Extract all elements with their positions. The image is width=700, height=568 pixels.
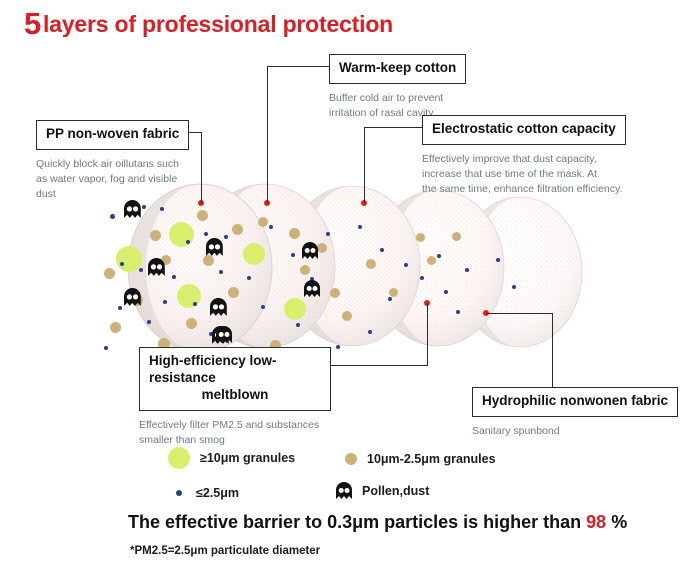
pollen-dust-icon xyxy=(210,298,227,316)
effectiveness-statement: The effective barrier to 0.3μm particles… xyxy=(128,512,627,533)
connector-line-vertical xyxy=(552,313,553,387)
percent-unit: % xyxy=(606,512,627,532)
pollen-dust-icon xyxy=(302,242,318,259)
connector-line-horizontal xyxy=(364,127,422,128)
callout-warm-keep-cotton: Warm-keep cotton Buffer cold air to prev… xyxy=(329,54,489,121)
callout-label-line1: High-efficiency low-resistance xyxy=(149,353,321,387)
connector-line-vertical xyxy=(364,127,365,203)
connector-line-horizontal xyxy=(267,66,329,67)
legend-label: Pollen,dust xyxy=(362,484,429,498)
connector-line-vertical xyxy=(201,132,202,203)
legend-label: ≥10μm granules xyxy=(200,451,295,465)
callout-label[interactable]: PP non-woven fabric xyxy=(36,120,189,150)
pollen-dust-icon xyxy=(124,288,141,306)
callout-pp-non-woven-fabric: PP non-woven fabric Quickly block air oi… xyxy=(36,120,182,203)
legend-label: ≤2.5μm xyxy=(196,486,239,500)
pollen-dust-icon xyxy=(148,258,165,276)
callout-label[interactable]: Hydrophilic nonwonen fabric xyxy=(472,387,678,417)
callout-hydrophilic-nonwonen-fabric: Hydrophilic nonwonen fabric Sanitary spu… xyxy=(472,387,662,439)
callout-label-line2: meltblown xyxy=(149,387,321,404)
connector-line-horizontal xyxy=(330,365,428,366)
connector-line-vertical xyxy=(427,303,428,365)
pollen-dust-icon xyxy=(336,482,352,499)
callout-electrostatic-cotton-capacity: Electrostatic cotton capacity Effectivel… xyxy=(422,115,636,198)
granule-large-swatch xyxy=(168,447,190,469)
connector-line-horizontal xyxy=(486,313,552,314)
legend-item-large-granules: ≥10μm granules xyxy=(168,447,295,469)
legend-item-medium-granules: 10μm-2.5μm granules xyxy=(345,452,496,466)
callout-label[interactable]: Warm-keep cotton xyxy=(329,54,466,84)
callout-label[interactable]: High-efficiency low-resistance meltblown xyxy=(139,347,331,411)
infographic-page: 5layers of professional protection xyxy=(0,0,700,568)
callout-label[interactable]: Electrostatic cotton capacity xyxy=(422,115,626,145)
percent-value: 98 xyxy=(586,512,606,532)
callout-description: Effectively improve that dust capacity, … xyxy=(422,152,636,198)
legend-item-fine-particles: ≤2.5μm xyxy=(176,486,239,500)
connector-line-vertical xyxy=(267,66,268,203)
callout-description: Quickly block air oillutans such as wate… xyxy=(36,157,182,203)
callout-meltblown: High-efficiency low-resistance meltblown… xyxy=(139,347,331,448)
pollen-dust-icon xyxy=(124,200,141,218)
legend-label: 10μm-2.5μm granules xyxy=(367,452,496,466)
callout-description: Sanitary spunbond xyxy=(472,424,662,439)
granule-medium-swatch xyxy=(345,453,357,465)
particle-fine-swatch xyxy=(176,490,182,496)
pollen-dust-icon xyxy=(304,280,320,297)
pollen-dust-icon xyxy=(206,238,223,256)
legend-item-pollen-dust: Pollen,dust xyxy=(336,482,429,499)
callout-description: Effectively filter PM2.5 and substances … xyxy=(139,418,331,448)
footnote: *PM2.5=2.5μm particulate diameter xyxy=(130,545,320,557)
statement-text: The effective barrier to 0.3μm particles… xyxy=(128,512,586,532)
